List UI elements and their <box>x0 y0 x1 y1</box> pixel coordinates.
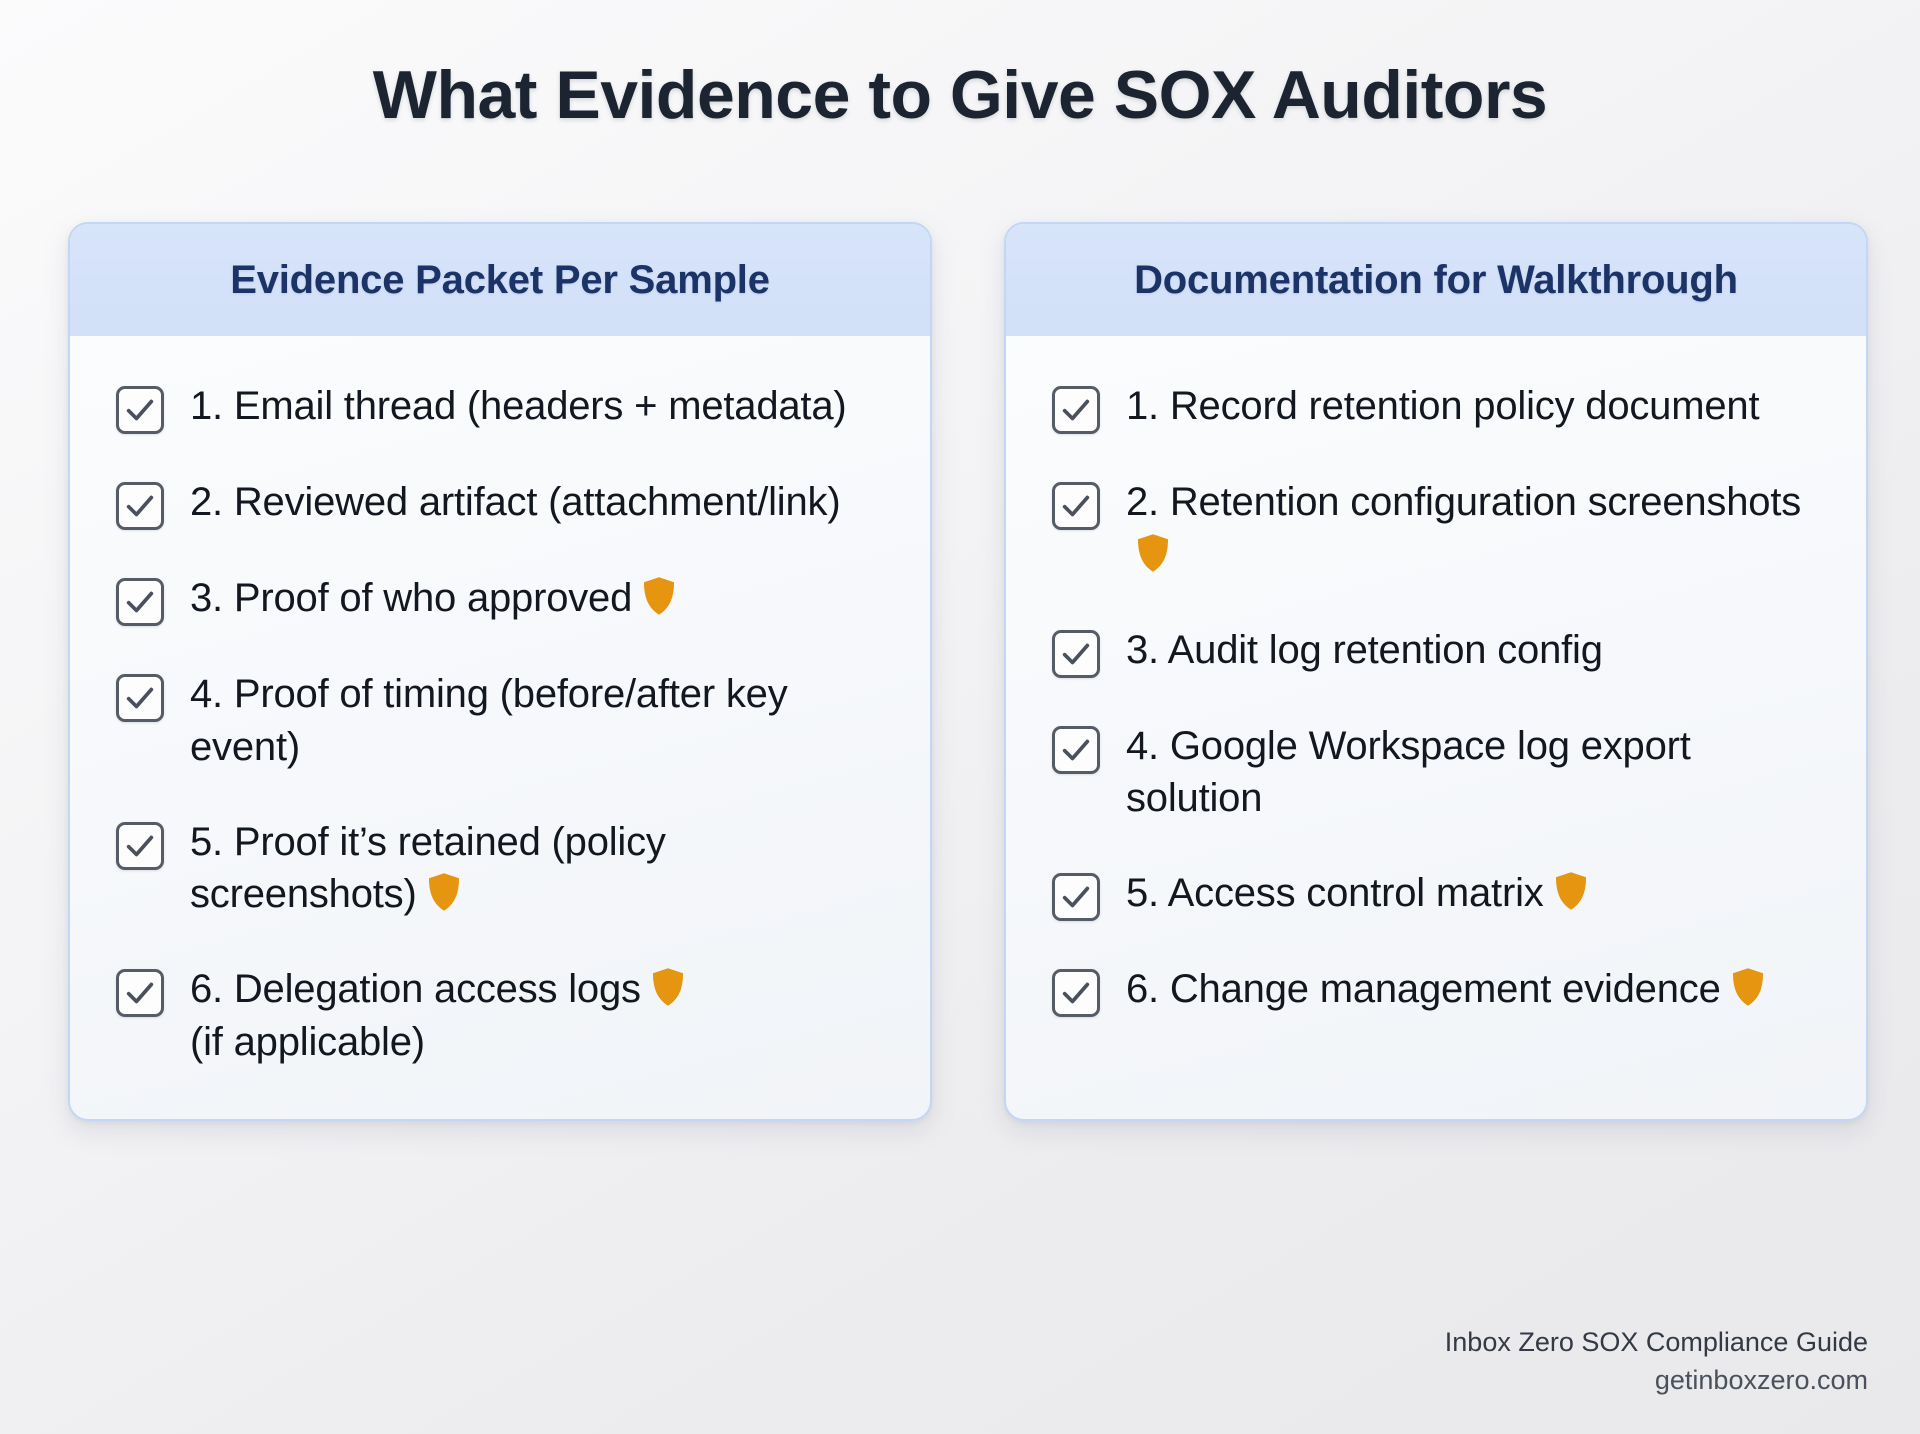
card-body-documentation-walkthrough: 1. Record retention policy document 2. R… <box>1006 336 1866 1119</box>
list-item-label: 1. Record retention policy document <box>1126 380 1759 433</box>
list-item[interactable]: 2. Reviewed artifact (attachment/link) <box>116 476 884 530</box>
card-header-documentation-walkthrough: Documentation for Walkthrough <box>1006 224 1866 336</box>
list-item-wrapper: 2. Retention configuration screenshots <box>1126 476 1820 582</box>
list-item[interactable]: 6. Delegation access logs(if applicable) <box>116 963 884 1069</box>
shield-icon <box>1731 967 1765 1007</box>
infographic-page: What Evidence to Give SOX Auditors Evide… <box>0 0 1920 1434</box>
list-item-wrapper: 5. Access control matrix <box>1126 867 1588 920</box>
list-item-wrapper: 6. Delegation access logs(if applicable) <box>190 963 685 1069</box>
card-title-documentation-walkthrough: Documentation for Walkthrough <box>1134 258 1738 303</box>
list-item[interactable]: 4. Google Workspace log export solution <box>1052 720 1820 826</box>
checkbox-icon[interactable] <box>116 969 164 1017</box>
page-title: What Evidence to Give SOX Auditors <box>0 58 1920 133</box>
shield-icon <box>1554 871 1588 911</box>
list-item[interactable]: 3. Audit log retention config <box>1052 624 1820 678</box>
list-item-label: 1. Email thread (headers + metadata) <box>190 380 847 433</box>
card-title-evidence-packet: Evidence Packet Per Sample <box>230 258 770 303</box>
list-item-label: 5. Access control matrix <box>1126 871 1544 915</box>
card-body-evidence-packet: 1. Email thread (headers + metadata) 2. … <box>70 336 930 1119</box>
checkbox-icon[interactable] <box>116 578 164 626</box>
checkbox-icon[interactable] <box>116 822 164 870</box>
checkbox-icon[interactable] <box>1052 969 1100 1017</box>
list-item-label: 2. Retention configuration screenshots <box>1126 480 1801 524</box>
list-item-wrapper: 3. Proof of who approved <box>190 572 676 625</box>
list-item-wrapper: 6. Change management evidence <box>1126 963 1765 1016</box>
list-item[interactable]: 5. Proof it’s retained (policy screensho… <box>116 816 884 922</box>
list-item[interactable]: 1. Record retention policy document <box>1052 380 1820 434</box>
checkbox-icon[interactable] <box>116 674 164 722</box>
list-item[interactable]: 5. Access control matrix <box>1052 867 1820 921</box>
shield-icon <box>1136 533 1170 573</box>
checkbox-icon[interactable] <box>1052 630 1100 678</box>
shield-icon <box>427 872 461 912</box>
card-evidence-packet: Evidence Packet Per Sample 1. Email thre… <box>68 222 932 1121</box>
list-item-wrapper: 5. Proof it’s retained (policy screensho… <box>190 816 884 922</box>
list-item-label: 6. Delegation access logs <box>190 967 641 1011</box>
list-item-label-continued: (if applicable) <box>190 1020 425 1064</box>
checkbox-icon[interactable] <box>116 386 164 434</box>
list-item[interactable]: 4. Proof of timing (before/after key eve… <box>116 668 884 774</box>
checklist-documentation-walkthrough: 1. Record retention policy document 2. R… <box>1052 380 1820 1017</box>
checkbox-icon[interactable] <box>1052 726 1100 774</box>
list-item[interactable]: 6. Change management evidence <box>1052 963 1820 1017</box>
list-item-label: 2. Reviewed artifact (attachment/link) <box>190 476 840 529</box>
list-item-label: 3. Proof of who approved <box>190 576 632 620</box>
checkbox-icon[interactable] <box>1052 482 1100 530</box>
footer: Inbox Zero SOX Compliance Guide getinbox… <box>1445 1324 1868 1400</box>
list-item-label: 3. Audit log retention config <box>1126 624 1603 677</box>
checkbox-icon[interactable] <box>116 482 164 530</box>
cards-row: Evidence Packet Per Sample 1. Email thre… <box>68 222 1868 1121</box>
list-item-label: 4. Proof of timing (before/after key eve… <box>190 668 884 774</box>
checklist-evidence-packet: 1. Email thread (headers + metadata) 2. … <box>116 380 884 1069</box>
list-item-label: 4. Google Workspace log export solution <box>1126 720 1820 826</box>
footer-guide-name: Inbox Zero SOX Compliance Guide <box>1445 1324 1868 1362</box>
list-item[interactable]: 3. Proof of who approved <box>116 572 884 626</box>
list-item[interactable]: 2. Retention configuration screenshots <box>1052 476 1820 582</box>
shield-icon <box>651 967 685 1007</box>
card-documentation-walkthrough: Documentation for Walkthrough 1. Record … <box>1004 222 1868 1121</box>
card-header-evidence-packet: Evidence Packet Per Sample <box>70 224 930 336</box>
checkbox-icon[interactable] <box>1052 873 1100 921</box>
list-item-label: 6. Change management evidence <box>1126 967 1721 1011</box>
shield-icon <box>642 576 676 616</box>
checkbox-icon[interactable] <box>1052 386 1100 434</box>
list-item[interactable]: 1. Email thread (headers + metadata) <box>116 380 884 434</box>
footer-website: getinboxzero.com <box>1445 1362 1868 1400</box>
